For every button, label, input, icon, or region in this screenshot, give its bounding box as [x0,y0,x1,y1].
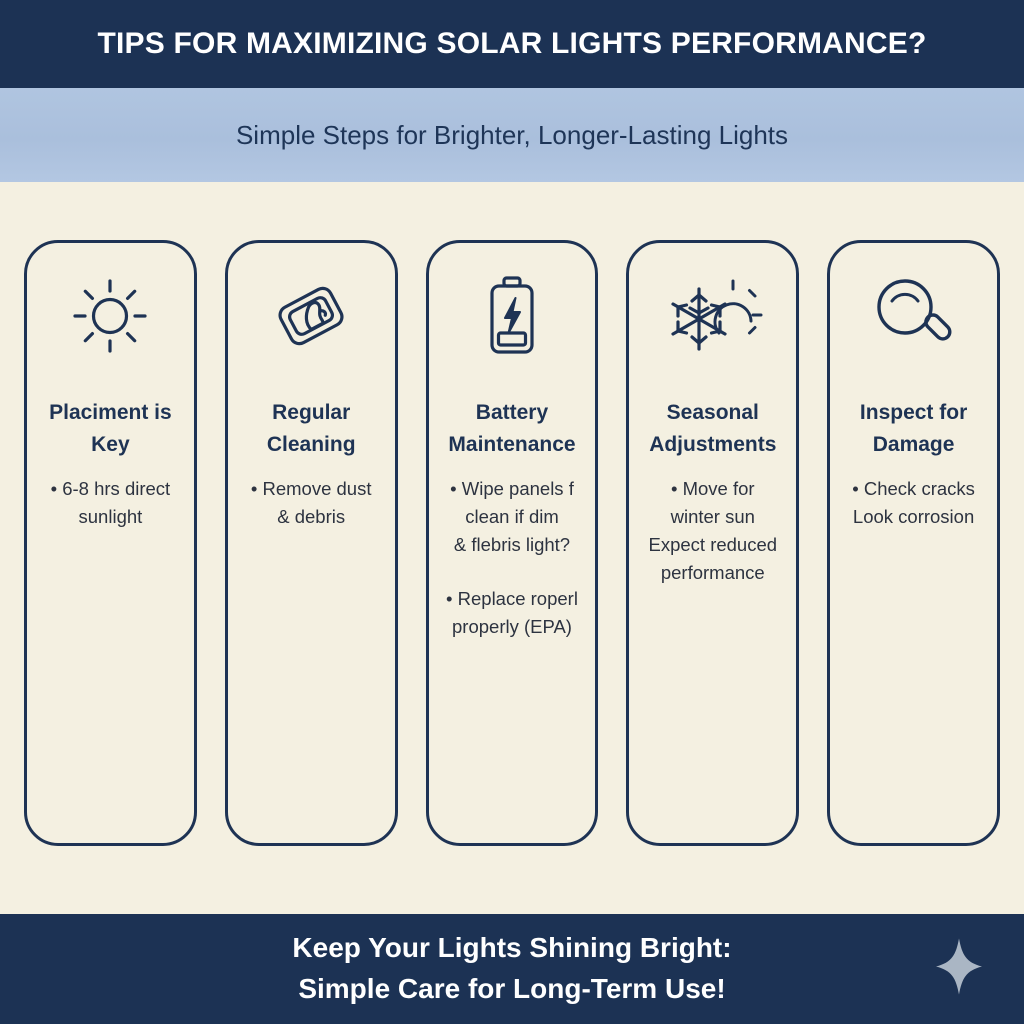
tip-card-battery[interactable]: Battery Maintenance • Wipe panels f clea… [426,240,599,846]
card-title: Regular Cleaning [236,397,387,461]
card-bullets: • Check cracks Look corrosion [838,475,989,531]
bullet-item: • Remove dust & debris [251,475,372,531]
page-title: TIPS FOR MAXIMIZING SOLAR LIGHTS PERFORM… [98,27,927,61]
tip-card-placement[interactable]: Placiment is Key • 6-8 hrs direct sunlig… [24,240,197,846]
tips-card-row: Placiment is Key • 6-8 hrs direct sunlig… [24,240,1000,846]
card-title: Placiment is Key [35,397,186,461]
card-bullets: • Wipe panels f clean if dim & flebris l… [437,475,588,642]
footer-callout: Keep Your Lights Shining Bright: Simple … [292,928,731,1009]
tip-card-cleaning[interactable]: Regular Cleaning • Remove dust & debris [225,240,398,846]
card-bullets: • Remove dust & debris [236,475,387,531]
bullet-item: • 6-8 hrs direct sunlight [51,475,171,531]
tip-card-seasonal[interactable]: Seasonal Adjustments • Move for winter s… [626,240,799,846]
bullet-item: • Replace roperl properly (EPA) [446,585,578,641]
bullet-item: • Move for winter sun Expect reduced per… [649,475,778,587]
infographic-canvas: TIPS FOR MAXIMIZING SOLAR LIGHTS PERFORM… [0,0,1024,1024]
footer-bar: Keep Your Lights Shining Bright: Simple … [0,914,1024,1024]
cleaning-cloth-icon [236,273,387,359]
snowflake-sun-icon [637,273,788,359]
card-title: Battery Maintenance [437,397,588,461]
magnifier-icon [838,273,989,359]
card-bullets: • 6-8 hrs direct sunlight [35,475,186,531]
card-bullets: • Move for winter sun Expect reduced per… [637,475,788,587]
card-title: Inspect for Damage [838,397,989,461]
battery-charge-icon [437,273,588,359]
card-title: Seasonal Adjustments [637,397,788,461]
sparkle-icon [936,939,982,1000]
bullet-item: • Check cracks Look corrosion [852,475,975,531]
subtitle-bar: Simple Steps for Brighter, Longer-Lastin… [0,88,1024,182]
tip-card-inspect[interactable]: Inspect for Damage • Check cracks Look c… [827,240,1000,846]
bullet-item: • Wipe panels f clean if dim & flebris l… [450,475,574,559]
header-bar: TIPS FOR MAXIMIZING SOLAR LIGHTS PERFORM… [0,0,1024,88]
sun-icon [35,273,186,359]
page-subtitle: Simple Steps for Brighter, Longer-Lastin… [236,120,788,151]
